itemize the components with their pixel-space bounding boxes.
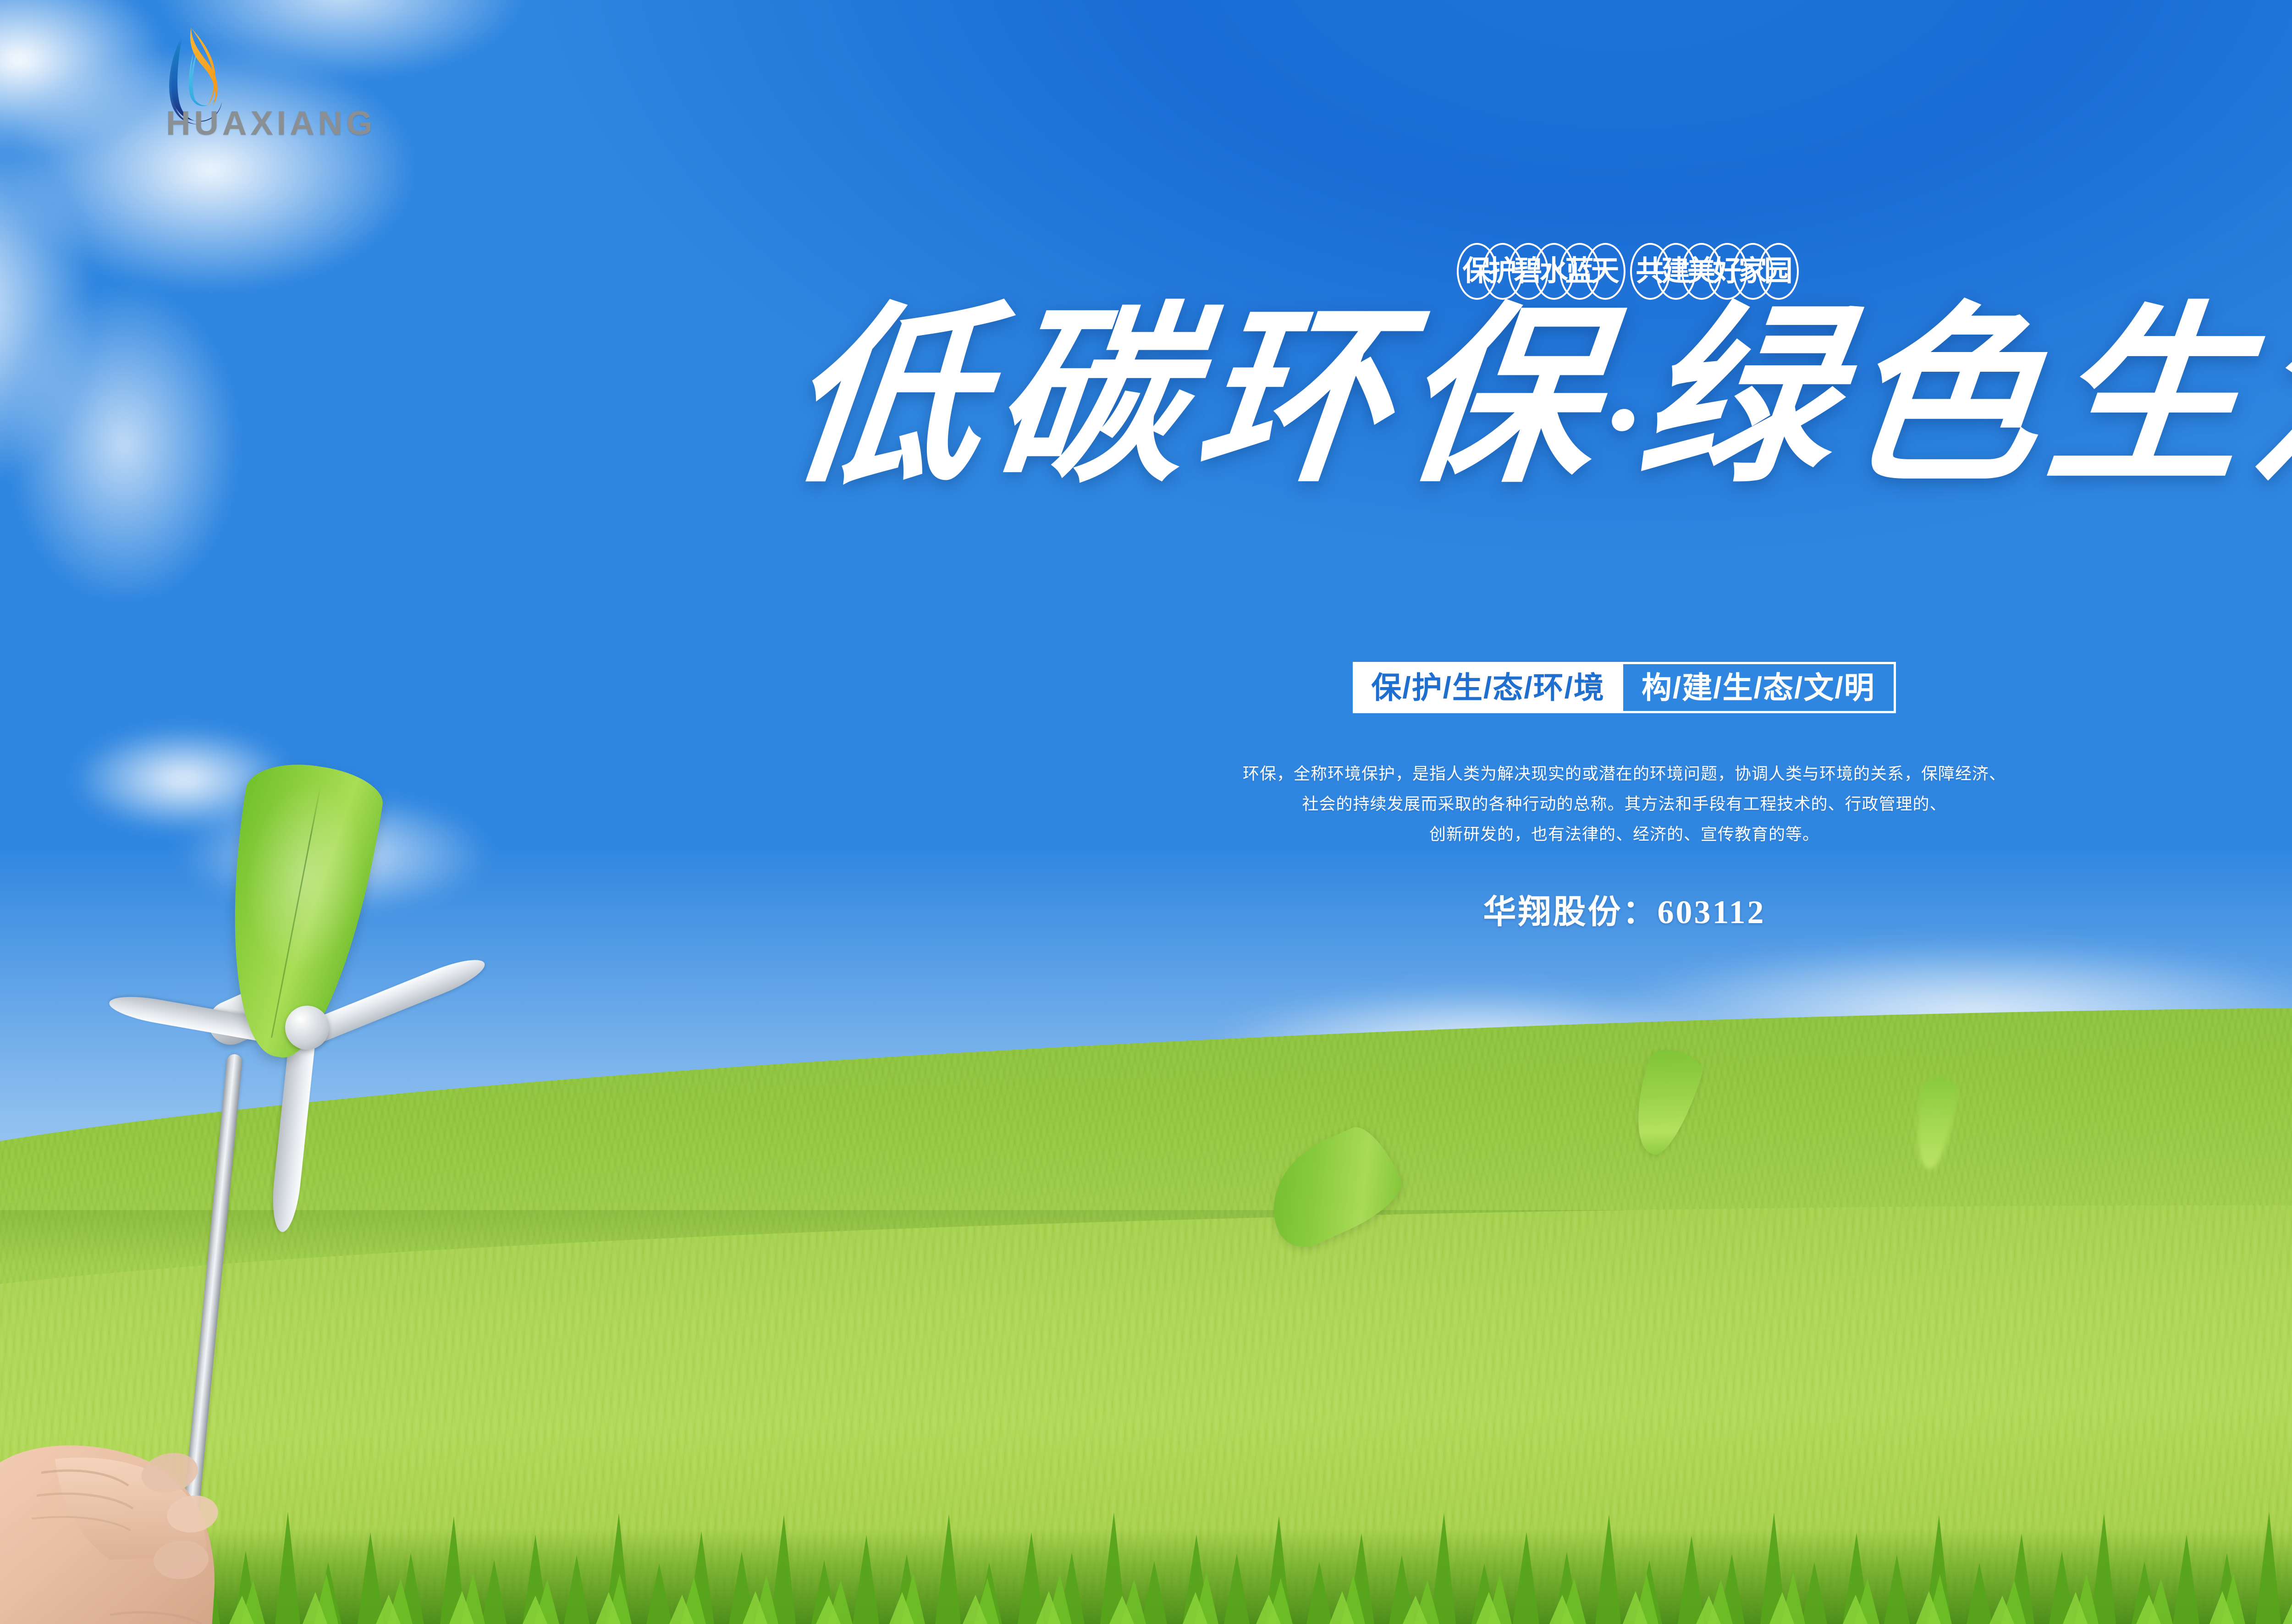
poster-canvas: HUAXIANG 保 护 碧 水 蓝 天 共 建 美 好 家 园 低碳环保·绿色… (0, 0, 2292, 1624)
description-paragraph: 环保，全称环境保护，是指人类为解决现实的或潜在的环境问题，协调人类与环境的关系，… (1116, 759, 2133, 849)
title-right: 绿色生活 (1631, 292, 2292, 505)
logo-wordmark: HUAXIANG (166, 104, 376, 143)
page-title: 低碳环保·绿色生活 (0, 303, 2292, 495)
subtitle-group-left: 保 护 碧 水 蓝 天 (1461, 243, 1615, 300)
subtitle-row: 保 护 碧 水 蓝 天 共 建 美 好 家 园 (0, 243, 2292, 300)
tagline-box-right: 构/建/生/态/文/明 (1623, 662, 1896, 713)
subtitle-char: 天 (1589, 243, 1621, 300)
brand-logo[interactable]: HUAXIANG (113, 12, 287, 149)
pinwheel-hub (285, 1006, 329, 1050)
stock-code-line: 华翔股份：603112 (1483, 885, 1765, 933)
subtitle-group-right: 共 建 美 好 家 园 (1634, 243, 1788, 300)
wind-turbine-pinwheel (138, 807, 642, 1311)
title-left: 低碳环保 (778, 292, 1619, 505)
paragraph-line: 创新研发的，也有法律的、经济的、宣传教育的等。 (1116, 819, 2133, 849)
tagline-right-text: 构/建/生/态/文/明 (1642, 672, 1875, 703)
hand-holding-pinwheel (0, 1321, 348, 1624)
paragraph-line: 环保，全称环境保护，是指人类为解决现实的或潜在的环境问题，协调人类与环境的关系，… (1116, 759, 2133, 789)
subtitle-char: 园 (1763, 243, 1795, 300)
tagline-row: 保/护/生/态/环/境 构/建/生/态/文/明 (0, 662, 2292, 713)
tagline-left-text: 保/护/生/态/环/境 (1371, 672, 1605, 703)
paragraph-line: 社会的持续发展而采取的各种行动的总称。其方法和手段有工程技术的、行政管理的、 (1116, 789, 2133, 819)
pinwheel-blade (269, 1035, 316, 1233)
tagline-box-left: 保/护/生/态/环/境 (1353, 662, 1623, 713)
